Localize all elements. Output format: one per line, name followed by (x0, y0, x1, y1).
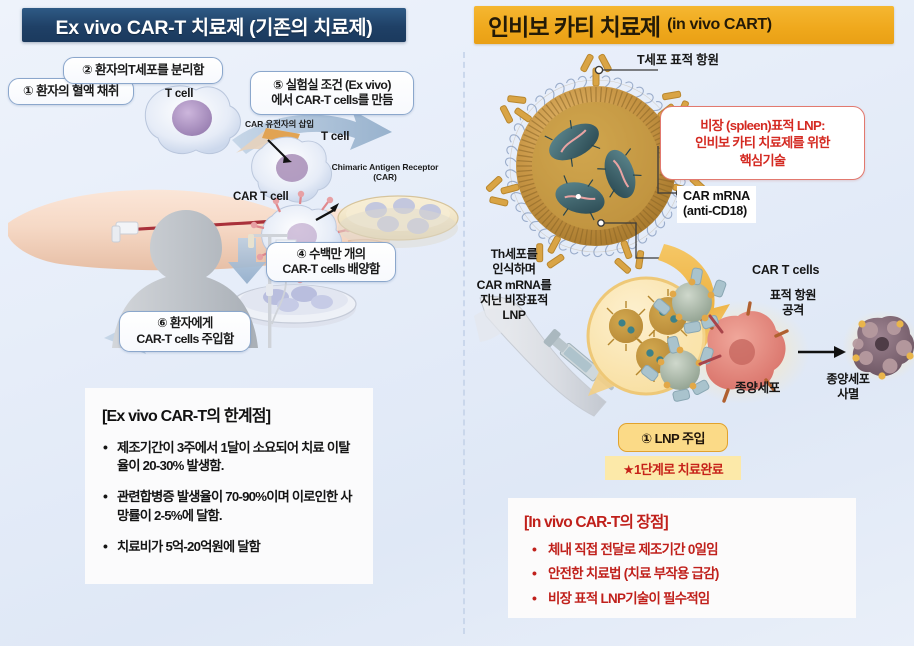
limitations-list: 제조기간이 3주에서 1달이 소요되어 치료 이탈율이 20-30% 발생함. … (102, 439, 358, 556)
step-bubble-6: ⑥ 환자에게 CAR-T cells 주입함 (119, 311, 251, 352)
label-th-cell-lnp: Th세포를 인식하며 CAR mRNA를 지닌 비장표적 LNP (458, 247, 570, 323)
list-item: 제조기간이 3주에서 1달이 소요되어 치료 이탈율이 20-30% 발생함. (102, 439, 358, 475)
benefits-list: 체내 직접 전달로 제조기간 0일임 안전한 치료법 (치료 부작용 급감) 비… (524, 541, 842, 607)
label-chimaric-antigen-receptor: Chimaric Antigen Receptor (CAR) (324, 163, 446, 183)
label-car-mrna: CAR mRNA (anti-CD18) (677, 186, 756, 223)
label-t-cell-target-antigen: T세포 표적 항원 (637, 53, 719, 68)
step-bubble-5: ⑤ 실험실 조건 (Ex vivo) 에서 CAR-T cells를 만듬 (250, 71, 414, 115)
label-t-cell-mid: T cell (321, 131, 349, 145)
left-panel-header: Ex vivo CAR-T 치료제 (기존의 치료제) (22, 8, 406, 42)
label-tumor-death: 종양세포 사멸 (812, 372, 884, 403)
leader-dot-mrna (598, 220, 604, 226)
step-bubble-2: ② 환자의T세포를 분리함 (63, 57, 223, 84)
panel-divider (463, 52, 465, 634)
petri-dish-right (338, 196, 458, 248)
label-car-gene-insertion: CAR 유전자의 삽입 (245, 120, 314, 130)
label-t-cell-top: T cell (165, 88, 193, 102)
one-step-complete-badge: ★1단계로 치료완료 (605, 456, 741, 480)
list-item: 안전한 치료법 (치료 부작용 급감) (524, 565, 842, 582)
list-item: 비장 표적 LNP기술이 필수적임 (524, 590, 842, 607)
spleen-lnp-callout: 비장 (spleen)표적 LNP: 인비보 카티 치료제를 위한 핵심기술 (660, 106, 865, 180)
right-panel-title-en: (in vivo CART) (667, 16, 772, 34)
limitations-title: [Ex vivo CAR-T의 한계점] (102, 402, 358, 426)
list-item: 체내 직접 전달로 제조기간 0일임 (524, 541, 842, 558)
infographic-canvas: Ex vivo CAR-T 치료제 (기존의 치료제) 인비보 카티 치료제 (… (0, 0, 914, 646)
label-car-t-cells: CAR T cells (752, 263, 819, 278)
label-tumor-cell: 종양세포 (735, 381, 780, 396)
in-vivo-benefits-panel: [In vivo CAR-T의 장점] 체내 직접 전달로 제조기간 0일임 안… (508, 498, 856, 618)
lnp-injection-step-badge: ① LNP 주입 (618, 423, 728, 452)
leader-dot-antigen (595, 66, 602, 73)
list-item: 관련합병증 발생율이 70-90%이며 이로인한 사망률이 2-5%에 달함. (102, 488, 358, 524)
ex-vivo-limitations-panel: [Ex vivo CAR-T의 한계점] 제조기간이 3주에서 1달이 소요되어… (85, 388, 373, 584)
right-panel-title-ko: 인비보 카티 치료제 (488, 8, 660, 42)
step-bubble-4: ④ 수백만 개의 CAR-T cells 배양함 (266, 242, 396, 282)
label-car-t-cell: CAR T cell (233, 191, 289, 205)
left-panel-title: Ex vivo CAR-T 치료제 (기존의 치료제) (56, 11, 373, 40)
list-item: 치료비가 5억-20억원에 달함 (102, 538, 358, 556)
benefits-title: [In vivo CAR-T의 장점] (524, 510, 842, 532)
right-panel-header: 인비보 카티 치료제 (in vivo CART) (474, 6, 894, 44)
label-antigen-attack: 표적 항원 공격 (755, 288, 831, 319)
